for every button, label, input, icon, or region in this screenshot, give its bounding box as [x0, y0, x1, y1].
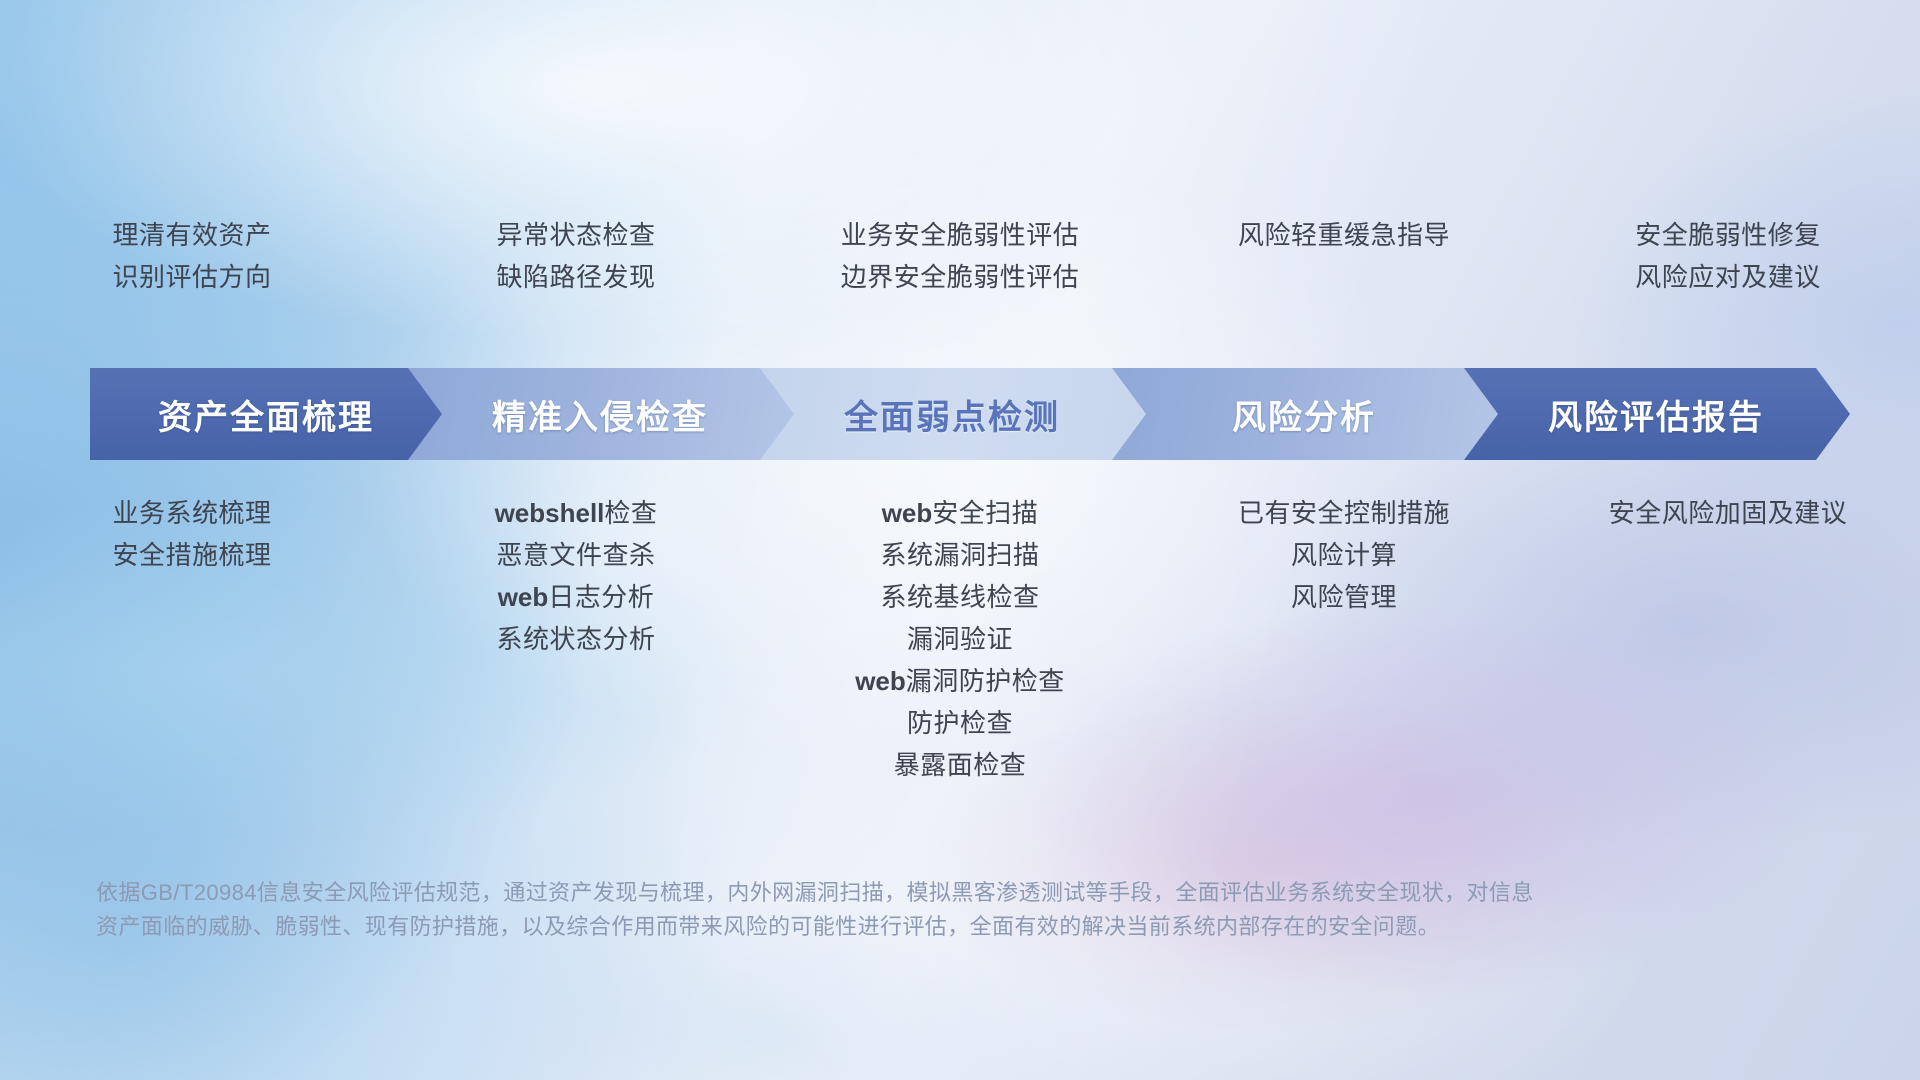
bottom-item: web漏洞防护检查 — [855, 668, 1065, 694]
bottom-activities-row: 业务系统梳理安全措施梳理webshell检查恶意文件查杀web日志分析系统状态分… — [0, 500, 1920, 830]
bottom-item-cjk: 暴露面检查 — [894, 750, 1027, 780]
bottom-item-latin: web — [882, 498, 933, 528]
bottom-item: 防护检查 — [907, 710, 1013, 736]
top-item: 异常状态检查 — [496, 222, 655, 248]
chevron-label: 风险分析 — [1232, 390, 1376, 439]
bottom-item: 业务系统梳理 — [112, 500, 271, 526]
top-column-2: 异常状态检查缺陷路径发现 — [384, 222, 768, 318]
chevron-stage-3[interactable]: 全面弱点检测 — [758, 368, 1146, 460]
footer-line: 依据GB/T20984信息安全风险评估规范，通过资产发现与梳理，内外网漏洞扫描，… — [96, 876, 1656, 910]
bottom-item-cjk: 业务系统梳理 — [112, 498, 271, 528]
bottom-item-cjk: 日志分析 — [548, 582, 654, 612]
top-column-5: 安全脆弱性修复风险应对及建议 — [1536, 222, 1920, 318]
bottom-item-cjk: 漏洞验证 — [907, 624, 1013, 654]
top-item: 边界安全脆弱性评估 — [841, 264, 1080, 290]
bottom-item: 暴露面检查 — [894, 752, 1027, 778]
bottom-item: 系统基线检查 — [880, 584, 1039, 610]
bottom-item: 系统状态分析 — [496, 626, 655, 652]
footer-line: 资产面临的威胁、脆弱性、现有防护措施，以及综合作用而带来风险的可能性进行评估，全… — [96, 910, 1656, 944]
top-item: 理清有效资产 — [112, 222, 271, 248]
bottom-item-cjk: 风险管理 — [1291, 582, 1397, 612]
bottom-item: 安全风险加固及建议 — [1609, 500, 1848, 526]
top-item: 业务安全脆弱性评估 — [841, 222, 1080, 248]
bottom-item: web日志分析 — [498, 584, 655, 610]
footer-description: 依据GB/T20984信息安全风险评估规范，通过资产发现与梳理，内外网漏洞扫描，… — [96, 876, 1656, 944]
chevron-stage-5[interactable]: 风险评估报告 — [1462, 368, 1850, 460]
bottom-column-5: 安全风险加固及建议 — [1536, 500, 1920, 830]
bottom-item-cjk: 风险计算 — [1291, 540, 1397, 570]
bottom-item: 风险管理 — [1291, 584, 1397, 610]
process-chevron-band: 资产全面梳理精准入侵检查全面弱点检测风险分析风险评估报告 — [90, 368, 1850, 460]
bottom-item: 风险计算 — [1291, 542, 1397, 568]
top-outcomes-row: 理清有效资产识别评估方向异常状态检查缺陷路径发现业务安全脆弱性评估边界安全脆弱性… — [0, 222, 1920, 318]
chevron-label: 全面弱点检测 — [844, 390, 1060, 439]
bottom-item-cjk: 安全风险加固及建议 — [1609, 498, 1848, 528]
chevron-stage-2[interactable]: 精准入侵检查 — [406, 368, 794, 460]
bottom-item-cjk: 系统基线检查 — [880, 582, 1039, 612]
bottom-column-1: 业务系统梳理安全措施梳理 — [0, 500, 384, 830]
chevron-stage-4[interactable]: 风险分析 — [1110, 368, 1498, 460]
bottom-column-2: webshell检查恶意文件查杀web日志分析系统状态分析 — [384, 500, 768, 830]
bottom-item-latin: webshell — [495, 498, 605, 528]
top-item: 风险轻重缓急指导 — [1238, 222, 1450, 248]
bottom-item-cjk: 恶意文件查杀 — [496, 540, 655, 570]
bottom-item-cjk: 防护检查 — [907, 708, 1013, 738]
chevron-label: 风险评估报告 — [1548, 390, 1764, 439]
bottom-item-cjk: 系统状态分析 — [496, 624, 655, 654]
top-item: 风险应对及建议 — [1635, 264, 1821, 290]
bottom-column-3: web安全扫描系统漏洞扫描系统基线检查漏洞验证web漏洞防护检查防护检查暴露面检… — [768, 500, 1152, 830]
top-item: 识别评估方向 — [112, 264, 271, 290]
bottom-item: 已有安全控制措施 — [1238, 500, 1450, 526]
bottom-item-cjk: 已有安全控制措施 — [1238, 498, 1450, 528]
bottom-item-cjk: 安全措施梳理 — [112, 540, 271, 570]
bottom-item-latin: web — [498, 582, 549, 612]
bottom-item: 恶意文件查杀 — [496, 542, 655, 568]
top-column-4: 风险轻重缓急指导 — [1152, 222, 1536, 318]
bottom-item: web安全扫描 — [882, 500, 1039, 526]
bottom-item-cjk: 系统漏洞扫描 — [880, 540, 1039, 570]
bottom-item: 系统漏洞扫描 — [880, 542, 1039, 568]
top-column-1: 理清有效资产识别评估方向 — [0, 222, 384, 318]
top-item: 缺陷路径发现 — [496, 264, 655, 290]
infographic: 理清有效资产识别评估方向异常状态检查缺陷路径发现业务安全脆弱性评估边界安全脆弱性… — [0, 0, 1920, 1080]
bottom-item-latin: web — [855, 666, 906, 696]
bottom-item-cjk: 检查 — [604, 498, 657, 528]
bottom-item-cjk: 安全扫描 — [932, 498, 1038, 528]
chevron-label: 精准入侵检查 — [492, 390, 708, 439]
chevron-label: 资产全面梳理 — [158, 390, 374, 439]
bottom-item: webshell检查 — [495, 500, 658, 526]
bottom-item: 漏洞验证 — [907, 626, 1013, 652]
bottom-item-cjk: 漏洞防护检查 — [906, 666, 1065, 696]
bottom-column-4: 已有安全控制措施风险计算风险管理 — [1152, 500, 1536, 830]
top-item: 安全脆弱性修复 — [1635, 222, 1821, 248]
chevron-stage-1[interactable]: 资产全面梳理 — [90, 368, 442, 460]
bottom-item: 安全措施梳理 — [112, 542, 271, 568]
top-column-3: 业务安全脆弱性评估边界安全脆弱性评估 — [768, 222, 1152, 318]
